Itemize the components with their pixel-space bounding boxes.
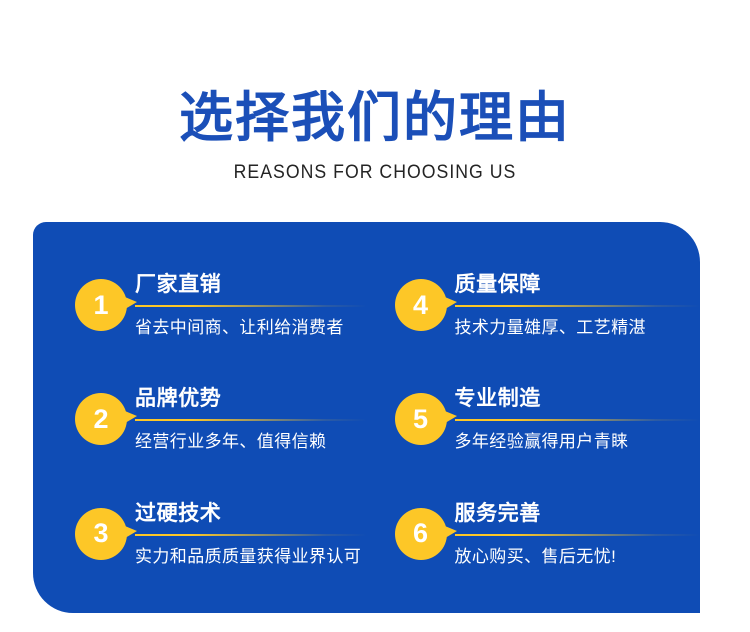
reason-text-group-1: 厂家直销 省去中间商、让利给消费者 <box>135 273 367 338</box>
reason-number-badge-6: 6 <box>395 508 447 560</box>
reason-item-6: 6 服务完善 放心购买、售后无忧! <box>367 477 701 591</box>
reason-item-2: 2 品牌优势 经营行业多年、值得信赖 <box>33 362 367 476</box>
reason-number-badge-2: 2 <box>75 393 127 445</box>
reason-heading-3: 过硬技术 <box>135 502 367 534</box>
reason-text-group-2: 品牌优势 经营行业多年、值得信赖 <box>135 387 367 452</box>
reason-item-4: 4 质量保障 技术力量雄厚、工艺精湛 <box>367 248 701 362</box>
reason-text-group-5: 专业制造 多年经验赢得用户青睐 <box>455 387 701 452</box>
reason-heading-4: 质量保障 <box>455 273 701 305</box>
reason-heading-6: 服务完善 <box>455 502 701 534</box>
reasons-grid: 1 厂家直销 省去中间商、让利给消费者 4 质量保障 技术力量雄厚、工艺精湛 2… <box>33 222 700 613</box>
reason-heading-2: 品牌优势 <box>135 387 367 419</box>
reason-item-5: 5 专业制造 多年经验赢得用户青睐 <box>367 362 701 476</box>
reason-number-badge-1: 1 <box>75 279 127 331</box>
reason-text-group-4: 质量保障 技术力量雄厚、工艺精湛 <box>455 273 701 338</box>
page-subtitle: REASONS FOR CHOOSING US <box>26 148 724 184</box>
reason-description-6: 放心购买、售后无忧! <box>455 536 701 567</box>
reason-description-1: 省去中间商、让利给消费者 <box>135 307 367 338</box>
reason-text-group-6: 服务完善 放心购买、售后无忧! <box>455 502 701 567</box>
reason-item-3: 3 过硬技术 实力和品质质量获得业界认可 <box>33 477 367 591</box>
reason-text-group-3: 过硬技术 实力和品质质量获得业界认可 <box>135 502 367 567</box>
reason-number-badge-3: 3 <box>75 508 127 560</box>
reason-item-1: 1 厂家直销 省去中间商、让利给消费者 <box>33 248 367 362</box>
reason-number-badge-4: 4 <box>395 279 447 331</box>
page-header: 选择我们的理由 REASONS FOR CHOOSING US <box>0 0 750 184</box>
reason-description-4: 技术力量雄厚、工艺精湛 <box>455 307 701 338</box>
page-title: 选择我们的理由 <box>0 0 750 148</box>
reason-description-3: 实力和品质质量获得业界认可 <box>135 536 367 567</box>
reason-description-5: 多年经验赢得用户青睐 <box>455 421 701 452</box>
reason-description-2: 经营行业多年、值得信赖 <box>135 421 367 452</box>
reason-number-badge-5: 5 <box>395 393 447 445</box>
reason-heading-5: 专业制造 <box>455 387 701 419</box>
reason-heading-1: 厂家直销 <box>135 273 367 305</box>
reasons-panel: 1 厂家直销 省去中间商、让利给消费者 4 质量保障 技术力量雄厚、工艺精湛 2… <box>33 222 700 613</box>
